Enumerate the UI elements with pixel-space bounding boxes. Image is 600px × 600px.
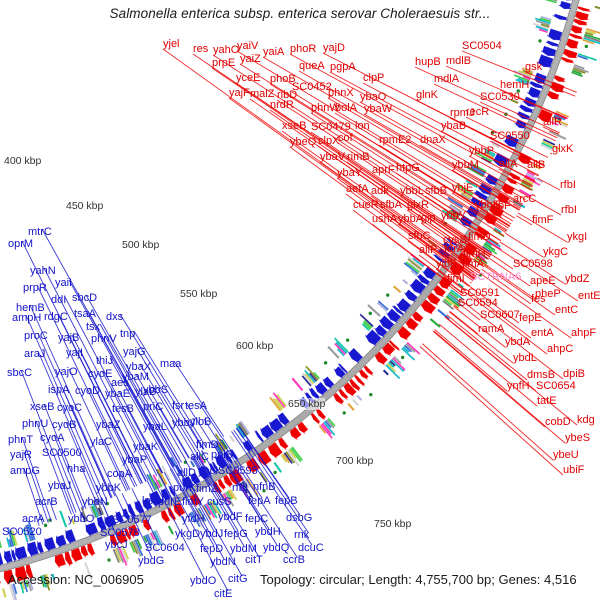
gene-label-forward: dpiB: [563, 369, 585, 380]
gene-label-forward: adk: [371, 186, 389, 197]
gene-label-forward: SC0654: [536, 381, 576, 392]
gene-label-forward: yajD: [323, 43, 345, 54]
gene-label-reverse: yajG: [123, 347, 146, 358]
gene-label-reverse: SC0604: [145, 543, 185, 554]
gene-label-reverse: SC0595: [218, 466, 258, 477]
gene-label-forward: gsk: [525, 62, 542, 73]
gene-label-reverse: tesA: [185, 401, 207, 412]
gene-label-reverse: ybcI: [198, 466, 218, 477]
gene-label-forward: ahpC: [547, 344, 573, 355]
gene-label-forward: glxK: [552, 144, 573, 155]
gene-label-reverse: fepB: [275, 496, 298, 507]
gene-label-forward: ybaY: [337, 168, 362, 179]
gene-label-forward: recR: [466, 107, 489, 118]
gene-label-reverse: ybdF: [218, 512, 242, 523]
gene-label-reverse: xseB: [30, 402, 54, 413]
gene-label-forward: htpG: [396, 163, 420, 174]
gene-label-forward: xseB: [282, 121, 306, 132]
gene-label-forward: apeE: [530, 276, 556, 287]
gene-label-forward: cobD: [545, 417, 571, 428]
gene-label-forward: hupB: [415, 57, 441, 68]
gene-label-reverse: ppiB: [211, 450, 233, 461]
gene-label-forward: queA: [299, 61, 325, 72]
gene-label-reverse: ybaE: [105, 389, 130, 400]
gene-label-reverse: SC0577: [112, 515, 152, 526]
gene-label-forward: clpP: [363, 73, 384, 84]
gene-label-forward: ybaV: [320, 152, 345, 163]
gene-label-forward: mdlA: [434, 74, 459, 85]
gene-label-reverse: rnk: [294, 530, 309, 541]
gene-label-forward: sfbB: [425, 186, 447, 197]
gene-label-rna: SCTRNA6: [470, 272, 521, 283]
gene-label-reverse: ybaM: [122, 372, 149, 383]
gene-label-reverse: oprM: [8, 239, 33, 250]
gene-label-reverse: ylaB: [135, 387, 156, 398]
gene-label-reverse: citE: [214, 589, 232, 600]
scale-marker: 550 kbp: [180, 288, 217, 300]
gene-label-reverse: citG: [228, 574, 248, 585]
gene-label-forward: sfbA: [380, 200, 402, 211]
accession-text: Accession: NC_006905: [8, 572, 144, 587]
gene-label-forward: ybeS: [565, 433, 590, 444]
gene-label-reverse: mtrC: [28, 227, 52, 238]
gene-label-forward: yajF: [229, 88, 250, 99]
gene-label-reverse: ybdO: [190, 576, 216, 587]
gene-label-forward: bolA: [335, 103, 357, 114]
gene-label-reverse: phnV: [91, 334, 117, 345]
gene-label-reverse: ybdN: [210, 557, 236, 568]
gene-label-reverse: acrB: [35, 497, 58, 508]
gene-label-reverse: ispA: [48, 385, 69, 396]
gene-label-reverse: cyoB: [52, 420, 76, 431]
gene-label-forward: mdlB: [446, 56, 471, 67]
gene-label-reverse: SC0520: [2, 527, 42, 538]
gene-label-reverse: ybbK: [96, 483, 121, 494]
gene-label-reverse: cyoE: [88, 369, 112, 380]
gene-label-forward: fepE: [519, 313, 542, 324]
gene-label-forward: fimI: [447, 274, 465, 285]
gene-label-reverse: ybaZ: [96, 420, 120, 431]
gene-label-forward: dnaX: [420, 135, 446, 146]
gene-label-reverse: rfbI: [232, 483, 248, 494]
gene-label-reverse: ybaJ: [48, 481, 71, 492]
gene-label-reverse: tesB: [112, 404, 134, 415]
gene-label-forward: yhjE: [452, 183, 473, 194]
scale-marker: 700 kbp: [336, 455, 373, 467]
gene-label-forward: rfbI: [561, 205, 577, 216]
gene-label-reverse: tnp: [120, 329, 135, 340]
gene-label-forward: phoR: [290, 44, 316, 55]
gene-label-reverse: priC: [143, 402, 163, 413]
gene-label-forward: arcC: [513, 194, 536, 205]
gene-label-forward: pgpA: [330, 62, 356, 73]
gene-label-reverse: yajO: [55, 367, 78, 378]
gene-label-reverse: yahN: [30, 266, 56, 277]
gene-label-reverse: cusS: [207, 497, 231, 508]
gene-label-forward: ybbA: [398, 214, 423, 225]
gene-label-forward: glnK: [416, 90, 438, 101]
gene-label-reverse: allC: [190, 452, 209, 463]
gene-label-forward: rfbI: [560, 180, 576, 191]
gene-label-forward: ybeU: [553, 450, 579, 461]
gene-label-reverse: ybcJ: [105, 540, 128, 551]
gene-label-forward: rpmE2: [379, 135, 411, 146]
scale-marker: 750 kbp: [374, 518, 411, 530]
gene-label-reverse: fimD: [196, 440, 219, 451]
gene-label-reverse: purE: [158, 497, 181, 508]
gene-label-reverse: ybdJ: [200, 529, 223, 540]
genome-summary-text: Topology: circular; Length: 4,755,700 bp…: [259, 572, 578, 587]
gene-label-reverse: ybaL: [143, 422, 167, 433]
gene-label-reverse: ybdG: [138, 556, 164, 567]
scale-marker: 450 kbp: [66, 200, 103, 212]
gene-label-reverse: araJ: [24, 349, 45, 360]
gene-label-forward: nrdR: [270, 100, 294, 111]
gene-label-forward: SC0550: [490, 131, 530, 142]
gene-label-forward: aprF: [372, 165, 395, 176]
gene-label-forward: allA: [499, 159, 517, 170]
gene-label-forward: yaiV: [237, 41, 258, 52]
gene-label-reverse: ddI: [51, 295, 66, 306]
gene-label-reverse: fimY: [182, 497, 204, 508]
gene-label-forward: yaiZ: [240, 54, 261, 65]
gene-label-reverse: ybdQ: [263, 543, 289, 554]
gene-label-reverse: ampH: [12, 313, 41, 324]
gene-label-forward: prpE: [212, 58, 235, 69]
gene-label-forward: lon: [355, 121, 370, 132]
gene-label-forward: ybdL: [513, 353, 537, 364]
gene-label-forward: kdg: [577, 415, 595, 426]
gene-label-forward: clpX: [318, 136, 339, 147]
scale-marker: 400 kbp: [4, 155, 41, 167]
gene-label-forward: entE: [578, 291, 600, 302]
gene-label-forward: allR: [543, 117, 562, 128]
gene-label-reverse: phnU: [22, 419, 48, 430]
gene-label-forward: fes: [531, 294, 546, 305]
gene-label-forward: ybdA: [505, 337, 530, 348]
gene-label-forward: fdrA: [444, 244, 464, 255]
gene-label-reverse: cyoA: [40, 433, 64, 444]
gene-label-forward: SC0452: [292, 82, 332, 93]
gene-label-forward: ynfH: [507, 381, 530, 392]
gene-label-reverse: dcuC: [298, 543, 324, 554]
gene-label-reverse: citT: [245, 555, 263, 566]
gene-label-forward: ylbE: [436, 259, 457, 270]
gene-label-forward: ybbL: [400, 186, 424, 197]
gene-label-reverse: tsaA: [74, 309, 96, 320]
gene-label-reverse: ylaC: [90, 437, 112, 448]
gene-label-forward: yceE: [236, 73, 260, 84]
genome-map-canvas: Salmonella enterica subsp. enterica sero…: [0, 0, 600, 600]
gene-label-forward: hemH: [500, 80, 529, 91]
scale-marker: 600 kbp: [236, 340, 273, 352]
gene-label-reverse: cyoC: [57, 403, 82, 414]
gene-label-reverse: ybbN: [82, 497, 108, 508]
gene-label-reverse: fimZ: [196, 484, 217, 495]
gene-label-reverse: ybbO: [68, 514, 94, 525]
gene-label-forward: entC: [555, 305, 578, 316]
page-title: Salmonella enterica subsp. enterica sero…: [0, 6, 600, 21]
gene-label-forward: ybdZ: [565, 274, 589, 285]
gene-label-reverse: dxs: [106, 312, 123, 323]
gene-label-forward: SC0607: [480, 310, 520, 321]
gene-label-forward: sfbC: [408, 231, 431, 242]
gene-label-forward: SC0504: [462, 41, 502, 52]
gene-label-forward: SC0530: [480, 92, 520, 103]
gene-label-reverse: dsbG: [286, 513, 312, 524]
gene-label-reverse: SC0578: [100, 528, 140, 539]
gene-label-reverse: allD: [177, 468, 196, 479]
gene-label-forward: tatE: [537, 396, 557, 407]
gene-label-reverse: acrA: [22, 514, 45, 525]
gene-label-reverse: fepC: [245, 514, 268, 525]
gene-label-forward: glxR: [407, 200, 429, 211]
gene-label-reverse: maa: [160, 359, 181, 370]
gene-label-forward: ybbP: [469, 146, 494, 157]
gene-label-reverse: rdgC: [44, 312, 68, 323]
gene-label-forward: aefA: [346, 184, 369, 195]
gene-label-reverse: thiJ: [96, 356, 113, 367]
gene-label-forward: res: [193, 44, 208, 55]
gene-label-forward: yahO: [213, 45, 239, 56]
gene-label-reverse: ybdH: [255, 527, 281, 538]
gene-label-forward: gip: [421, 213, 436, 224]
gene-label-reverse: copA: [107, 469, 132, 480]
gene-label-reverse: phnT: [8, 435, 33, 446]
gene-label-reverse: ykgD: [175, 529, 200, 540]
gene-label-reverse: fepD: [200, 544, 223, 555]
gene-label-reverse: cyoD: [75, 386, 100, 397]
gene-label-reverse: fsr: [172, 401, 184, 412]
gene-label-reverse: ccrB: [283, 555, 305, 566]
gene-label-forward: allP: [419, 245, 437, 256]
gene-label-reverse: purK: [173, 483, 196, 494]
gene-label-reverse: yaiI: [55, 278, 72, 289]
gene-label-forward: phnX: [328, 88, 354, 99]
gene-label-reverse: sbcC: [7, 368, 32, 379]
scale-marker: 650 kbp: [288, 398, 325, 410]
gene-label-forward: cof: [338, 133, 353, 144]
gene-label-forward: ybaB: [441, 121, 466, 132]
gene-label-forward: ybhE: [475, 200, 500, 211]
gene-label-forward: ykgC: [543, 247, 568, 258]
gene-label-reverse: yajR: [10, 450, 32, 461]
gene-label-forward: cueR: [353, 200, 379, 211]
gene-label-forward: fimA: [462, 259, 484, 270]
gene-label-forward: ubiF: [563, 465, 584, 476]
gene-label-reverse: ybaP: [122, 455, 147, 466]
gene-label-forward: entA: [531, 328, 554, 339]
gene-label-forward: fimD: [468, 232, 491, 243]
gene-label-reverse: proC: [24, 331, 48, 342]
gene-label-reverse: SC0500: [42, 448, 82, 459]
gene-label-reverse: yajI: [66, 348, 83, 359]
gene-label-reverse: tsx: [86, 322, 100, 333]
gene-label-forward: ybaW: [364, 104, 392, 115]
gene-label-reverse: fepA: [248, 496, 271, 507]
gene-label-forward: SC0598: [513, 259, 553, 270]
gene-label-reverse: yajB: [58, 333, 79, 344]
gene-label-forward: ybbY: [441, 211, 466, 222]
gene-label-reverse: hha: [67, 464, 85, 475]
gene-label-reverse: fepG: [224, 529, 248, 540]
gene-label-forward: rimB: [347, 152, 370, 163]
gene-label-forward: fimF: [532, 215, 553, 226]
scale-marker: 500 kbp: [122, 239, 159, 251]
gene-label-reverse: nfnB: [253, 482, 276, 493]
gene-label-forward: allB: [527, 160, 545, 171]
gene-label-forward: ybbM: [452, 160, 479, 171]
gene-label-forward: ykgI: [567, 232, 587, 243]
gene-label-reverse: ybaK: [133, 442, 158, 453]
gene-label-reverse: yfdH: [182, 514, 205, 525]
gene-label-forward: SC0594: [458, 298, 498, 309]
gene-label-forward: ushA: [372, 214, 397, 225]
gene-label-reverse: sbcD: [72, 293, 97, 304]
gene-label-forward: yjel: [163, 39, 180, 50]
gene-label-reverse: ampG: [10, 466, 40, 477]
gene-label-forward: ahpF: [571, 328, 596, 339]
gene-label-forward: yaiA: [263, 47, 284, 58]
gene-label-forward: ramA: [478, 324, 504, 335]
gene-label-forward: ybeQ: [290, 137, 316, 148]
gene-label-forward: ybaO: [360, 92, 386, 103]
gene-label-reverse: prpR: [23, 283, 47, 294]
gene-label-reverse: ylbB: [190, 417, 211, 428]
